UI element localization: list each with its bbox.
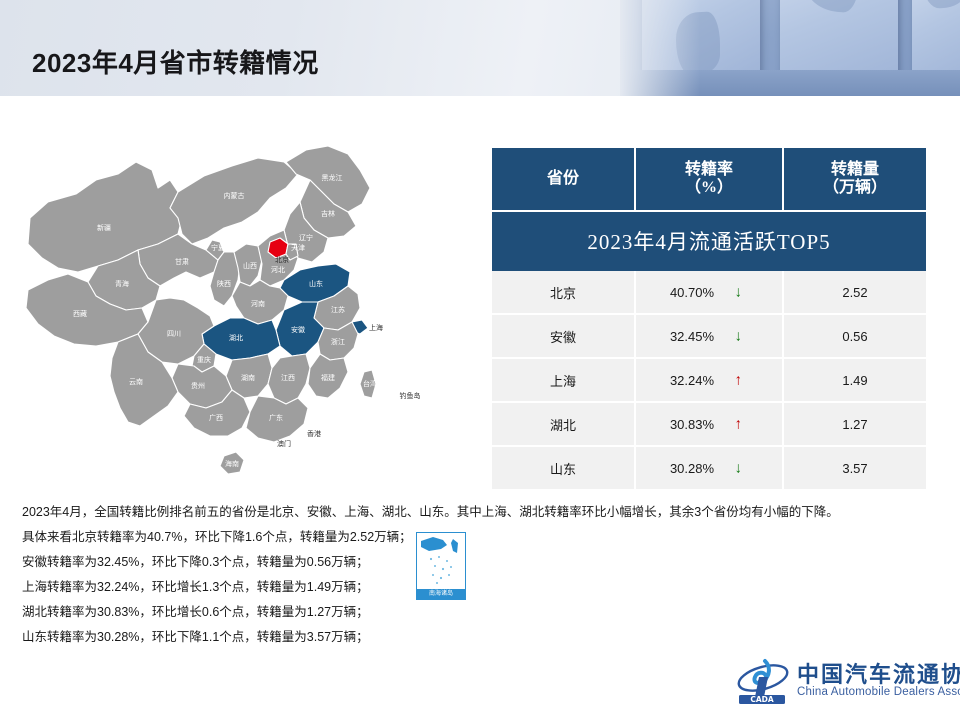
- cada-emblem-icon: CADA: [735, 657, 793, 705]
- trend-down-icon: ↓: [735, 285, 743, 300]
- table-row[interactable]: 山东 30.28% ↓ 3.57: [492, 446, 926, 489]
- decor-continent-2: [806, 0, 858, 14]
- col-header-rate-line1: 转籍率: [685, 161, 733, 178]
- trend-up-icon: ↑: [735, 373, 743, 388]
- map-label-hebei: 河北: [271, 266, 285, 274]
- cell-province: 山东: [492, 446, 635, 489]
- col-header-province-line1: 省份: [547, 170, 579, 187]
- table-row[interactable]: 上海 32.24% ↑ 1.49: [492, 358, 926, 402]
- map-label-qinghai: 青海: [115, 279, 129, 288]
- map-label-liaoning: 辽宁: [299, 233, 313, 242]
- cell-volume: 3.57: [783, 446, 926, 489]
- map-label-guizhou: 贵州: [191, 381, 205, 390]
- cell-province: 北京: [492, 271, 635, 314]
- table-title: 2023年4月流通活跃TOP5: [492, 211, 926, 271]
- map-label-hubei: 湖北: [229, 333, 243, 342]
- map-label-shandong: 山东: [309, 279, 323, 288]
- map-label-guangdong: 广东: [269, 413, 283, 422]
- analysis-paragraph-6: 山东转籍率为30.28%，环比下降1.1个点，转籍量为3.57万辆；: [22, 625, 942, 650]
- table-row[interactable]: 北京 40.70% ↓ 2.52: [492, 271, 926, 314]
- map-label-hongkong: 香港: [307, 429, 321, 438]
- col-header-volume-line1: 转籍量: [831, 161, 879, 178]
- trend-down-icon: ↓: [735, 329, 743, 344]
- analysis-paragraph-5: 湖北转籍率为30.83%，环比增长0.6个点，转籍量为1.27万辆；: [22, 600, 942, 625]
- map-label-hunan: 湖南: [241, 373, 255, 382]
- map-label-shanxi: 山西: [243, 261, 257, 270]
- col-header-province[interactable]: 省份: [492, 148, 635, 211]
- top5-table: 2023年4月流通活跃TOP5 省份 转籍率 （%） 转籍量 （万辆） 北京 4…: [492, 148, 926, 489]
- map-label-tibet: 西藏: [73, 309, 87, 318]
- cell-province: 湖北: [492, 402, 635, 446]
- analysis-paragraph-3: 安徽转籍率为32.45%，环比下降0.3个点，转籍量为0.56万辆；: [22, 550, 942, 575]
- map-label-chongqing: 重庆: [197, 355, 211, 364]
- trend-up-icon: ↑: [735, 417, 743, 432]
- table-body: 北京 40.70% ↓ 2.52 安徽 32.45% ↓ 0.56 上海: [492, 271, 926, 489]
- map-label-ningxia: 宁夏: [211, 243, 225, 252]
- cell-province: 安徽: [492, 314, 635, 358]
- analysis-paragraph-4: 上海转籍率为32.24%，环比增长1.3个点，转籍量为1.49万辆；: [22, 575, 942, 600]
- cell-rate-value: 32.45%: [670, 329, 714, 344]
- china-map: 新疆 西藏 青海 甘肃 内蒙古 黑龙江 吉林 辽宁 河北 天津 山西 陕西 宁夏…: [18, 140, 478, 490]
- map-label-heilongjiang: 黑龙江: [322, 173, 343, 182]
- map-label-inner-mongolia: 内蒙古: [224, 191, 245, 200]
- map-label-shaanxi: 陕西: [217, 279, 231, 288]
- map-label-shanghai: 上海: [369, 323, 383, 332]
- map-label-jilin: 吉林: [321, 209, 335, 218]
- cell-rate-value: 30.83%: [670, 417, 714, 432]
- cell-volume: 1.27: [783, 402, 926, 446]
- map-label-hainan: 海南: [225, 459, 239, 468]
- table-column-header: 省份 转籍率 （%） 转籍量 （万辆）: [492, 148, 926, 211]
- province-inner-mongolia: [170, 158, 298, 244]
- map-label-fujian: 福建: [321, 373, 335, 382]
- map-label-diaoyu: 钓鱼岛: [400, 391, 421, 400]
- map-label-yunnan: 云南: [129, 377, 143, 386]
- cell-rate: 32.24% ↑: [635, 358, 783, 402]
- map-label-henan: 河南: [251, 299, 265, 308]
- logo-text-chinese: 中国汽车流通协会: [797, 657, 960, 689]
- map-label-xinjiang: 新疆: [97, 223, 111, 232]
- cell-volume: 2.52: [783, 271, 926, 314]
- cell-rate: 30.83% ↑: [635, 402, 783, 446]
- page-title: 2023年4月省市转籍情况: [32, 43, 319, 80]
- cell-rate-value: 32.24%: [670, 373, 714, 388]
- cell-province: 上海: [492, 358, 635, 402]
- cada-logo: CADA 中国汽车流通协会 China Automobile Dealers A…: [735, 655, 950, 707]
- china-map-svg: 新疆 西藏 青海 甘肃 内蒙古 黑龙江 吉林 辽宁 河北 天津 山西 陕西 宁夏…: [18, 140, 478, 490]
- map-label-jiangxi: 江西: [281, 374, 295, 382]
- col-header-rate-line2: （%）: [685, 179, 733, 196]
- analysis-text: 2023年4月，全国转籍比例排名前五的省份是北京、安徽、上海、湖北、山东。其中上…: [22, 500, 942, 650]
- map-label-anhui: 安徽: [291, 325, 305, 334]
- table-header-row: 省份 转籍率 （%） 转籍量 （万辆）: [492, 148, 926, 211]
- analysis-paragraph-2: 具体来看北京转籍率为40.7%，环比下降1.6个点，转籍量为2.52万辆；: [22, 525, 942, 550]
- map-label-macau: 澳门: [277, 439, 291, 448]
- header-decoration-cubes-icon: [620, 0, 960, 96]
- map-label-tianjin: 天津: [291, 244, 305, 252]
- col-header-rate[interactable]: 转籍率 （%）: [635, 148, 783, 211]
- table-title-row: 2023年4月流通活跃TOP5: [492, 211, 926, 271]
- map-label-taiwan: 台湾: [363, 379, 377, 388]
- cell-rate-value: 30.28%: [670, 461, 714, 476]
- map-label-zhejiang: 浙江: [331, 337, 345, 346]
- cell-rate: 30.28% ↓: [635, 446, 783, 489]
- cell-volume: 1.49: [783, 358, 926, 402]
- map-label-beijing: 北京: [275, 255, 289, 264]
- logo-text-english: China Automobile Dealers Association: [797, 686, 960, 698]
- decor-fade: [620, 0, 700, 96]
- table-row[interactable]: 安徽 32.45% ↓ 0.56: [492, 314, 926, 358]
- decor-continent-3: [924, 0, 960, 9]
- cada-mark-text: CADA: [750, 695, 774, 704]
- page-header: 2023年4月省市转籍情况: [0, 0, 960, 96]
- cell-volume: 0.56: [783, 314, 926, 358]
- cell-rate: 32.45% ↓: [635, 314, 783, 358]
- cell-rate-value: 40.70%: [670, 285, 714, 300]
- map-label-gansu: 甘肃: [175, 257, 189, 266]
- map-label-guangxi: 广西: [209, 413, 223, 422]
- map-label-sichuan: 四川: [167, 330, 181, 338]
- trend-down-icon: ↓: [735, 461, 743, 476]
- analysis-paragraph-1: 2023年4月，全国转籍比例排名前五的省份是北京、安徽、上海、湖北、山东。其中上…: [22, 500, 942, 525]
- map-label-jiangsu: 江苏: [331, 305, 345, 314]
- table-row[interactable]: 湖北 30.83% ↑ 1.27: [492, 402, 926, 446]
- cell-rate: 40.70% ↓: [635, 271, 783, 314]
- col-header-volume[interactable]: 转籍量 （万辆）: [783, 148, 926, 211]
- col-header-volume-line2: （万辆）: [823, 179, 887, 196]
